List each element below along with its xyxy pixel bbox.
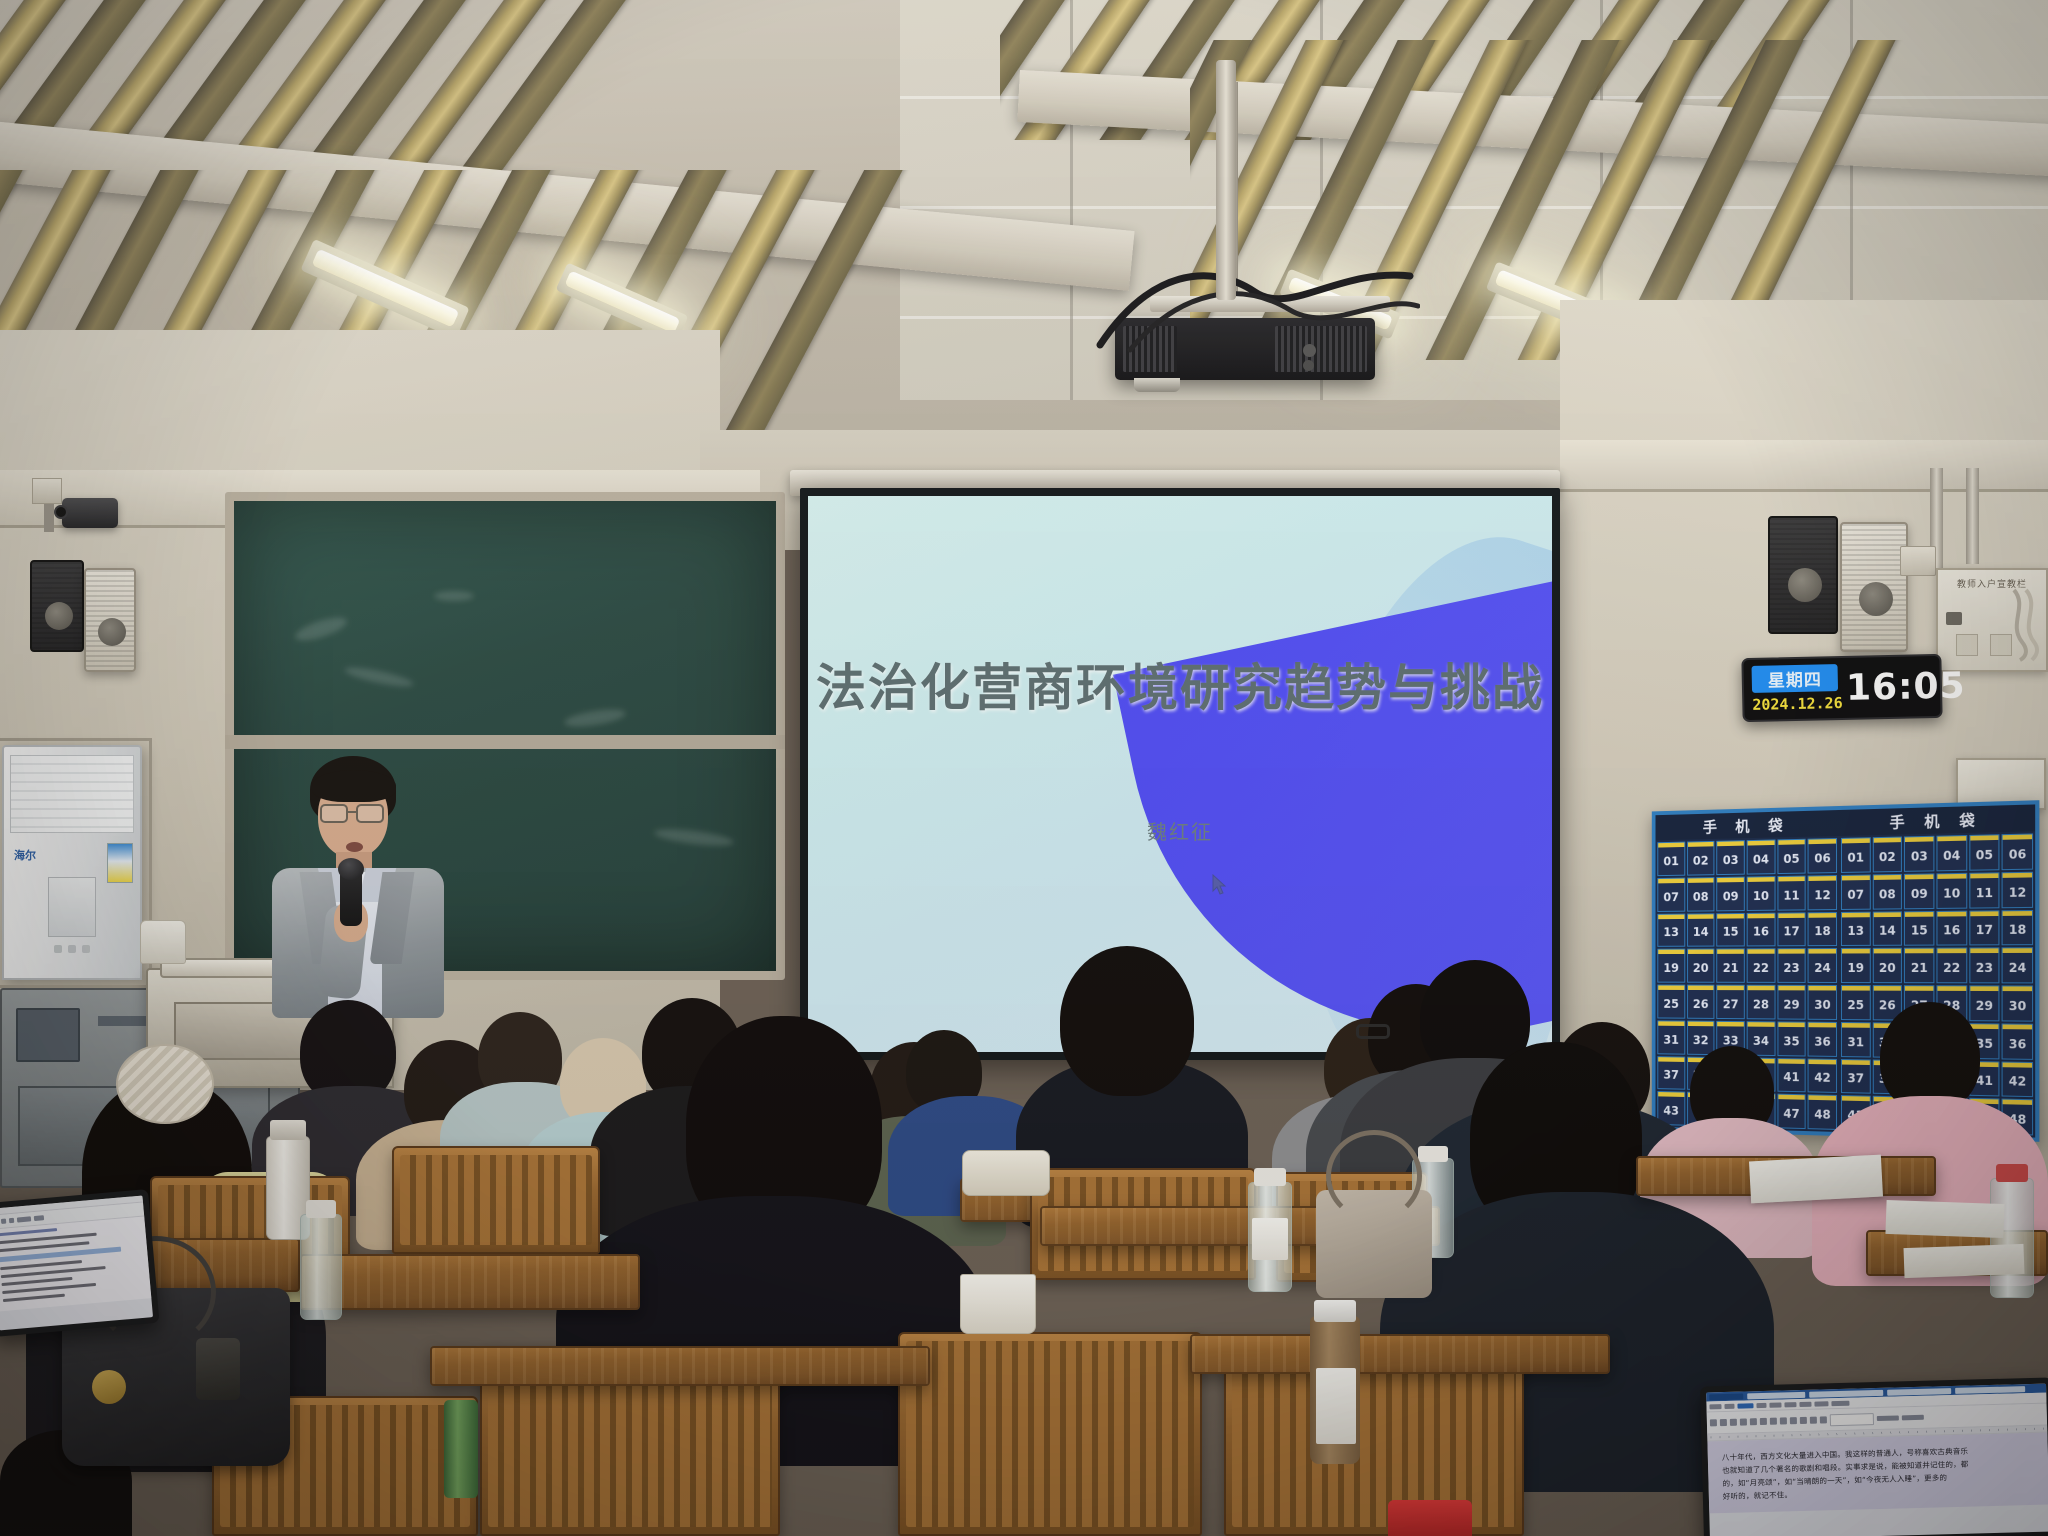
phone-pocket[interactable]: 03 <box>1904 836 1934 872</box>
phone-pocket[interactable]: 10 <box>1936 873 1966 909</box>
bottle-label <box>1252 1218 1288 1260</box>
phone-board-row: 010203040506 <box>1841 833 2033 872</box>
phone-pocket[interactable]: 36 <box>1808 1021 1837 1056</box>
phone-pocket[interactable]: 29 <box>1969 985 2000 1021</box>
presentation-slide[interactable]: 法治化营商环境研究趋势与挑战 魏红征 <box>808 496 1552 1052</box>
phone-pocket[interactable]: 30 <box>1808 985 1837 1020</box>
wps-document-page[interactable]: 八十年代，西方文化大量进入中国。我这样的普通人，号称喜欢古典音乐 也就知道了几个… <box>1707 1433 2048 1514</box>
chair-back-front <box>1224 1352 1524 1536</box>
chair-back-front <box>898 1332 1202 1536</box>
food-container <box>962 1150 1050 1196</box>
phone-pocket[interactable]: 11 <box>1969 872 2000 908</box>
phone-pocket[interactable]: 23 <box>1777 948 1806 983</box>
phone-board-row: 010203040506 <box>1657 838 1837 876</box>
speaker-icon <box>1840 522 1908 652</box>
phone-pocket[interactable]: 17 <box>1777 912 1806 947</box>
phone-pocket[interactable]: 42 <box>2002 1061 2033 1097</box>
phone-pocket[interactable]: 16 <box>1936 910 1966 946</box>
phone-pocket[interactable]: 10 <box>1747 876 1776 911</box>
phone-pocket[interactable]: 04 <box>1747 839 1776 874</box>
bottle-cap <box>1254 1168 1286 1186</box>
slide-title: 法治化营商环境研究趋势与挑战 <box>808 648 1552 720</box>
phone-board-row: 131415161718 <box>1841 909 2033 946</box>
speaker-icon <box>30 560 84 652</box>
phone-pocket[interactable]: 47 <box>1777 1094 1806 1129</box>
wall-box-left <box>32 478 62 504</box>
handbag-buckle <box>92 1370 126 1404</box>
presenter-glasses <box>356 804 384 823</box>
phone-pocket[interactable]: 03 <box>1717 840 1745 875</box>
phone-pocket[interactable]: 17 <box>1969 910 2000 946</box>
phone-pocket[interactable]: 12 <box>1808 875 1837 910</box>
speaker-icon <box>84 568 136 672</box>
phone-pocket[interactable]: 25 <box>1657 985 1685 1019</box>
bottle-cap <box>1996 1164 2028 1182</box>
phone-pocket[interactable]: 29 <box>1777 985 1806 1020</box>
laptop-left-screen[interactable] <box>0 1196 153 1331</box>
phone-pocket[interactable]: 04 <box>1936 835 1966 871</box>
papers-stack <box>1885 1200 2004 1238</box>
phone-pocket[interactable]: 14 <box>1872 911 1902 946</box>
phone-pocket[interactable]: 18 <box>1808 912 1837 947</box>
phone-pocket[interactable]: 13 <box>1657 913 1685 947</box>
phone-pocket[interactable]: 07 <box>1841 874 1870 909</box>
phone-pocket[interactable]: 14 <box>1687 913 1715 947</box>
phone-pocket[interactable]: 16 <box>1747 912 1776 946</box>
phone-pocket[interactable]: 24 <box>1808 948 1837 983</box>
chalkboard-rail <box>225 735 785 749</box>
mouse-pointer-icon <box>1212 874 1228 896</box>
phone-pocket[interactable]: 12 <box>2002 871 2033 907</box>
phone-pocket[interactable]: 09 <box>1717 876 1745 910</box>
ac-wall-recess <box>0 738 152 988</box>
projector-cables <box>1090 250 1420 360</box>
phone-pocket[interactable]: 05 <box>1969 834 2000 870</box>
slide-subtitle: 魏红征 <box>808 816 1552 845</box>
phone-pocket[interactable]: 06 <box>2002 833 2033 869</box>
bottle-cap <box>270 1120 306 1140</box>
microphone-head <box>338 858 364 880</box>
audience-glasses <box>1356 1024 1390 1039</box>
bottle-label <box>1316 1368 1356 1444</box>
phone-pocket[interactable]: 19 <box>1841 948 1870 983</box>
projector-conduit <box>1216 60 1236 300</box>
phone-pocket[interactable]: 22 <box>1936 948 1966 984</box>
phone-pocket[interactable]: 19 <box>1657 949 1685 983</box>
water-bottle <box>300 1214 342 1320</box>
presenter <box>262 756 492 1016</box>
phone-pocket[interactable]: 13 <box>1841 911 1870 946</box>
bag-strap <box>1326 1130 1422 1222</box>
phone-pocket[interactable]: 24 <box>2002 947 2033 983</box>
phone-pocket[interactable]: 22 <box>1747 949 1776 983</box>
clock-time: 16:05 <box>1846 665 1966 708</box>
phone-board-row: 131415161718 <box>1657 912 1837 948</box>
presenter-glasses <box>320 804 348 823</box>
green-bottle <box>444 1400 478 1498</box>
clock-weekday: 星期四 <box>1752 664 1839 693</box>
wall-notice-sign: 教师入户宣教栏 <box>1936 568 2048 672</box>
phone-pocket[interactable]: 23 <box>1969 948 2000 984</box>
phone-pocket[interactable]: 21 <box>1904 948 1934 983</box>
phone-pocket[interactable]: 42 <box>1808 1058 1837 1093</box>
phone-board-row: 252627282930 <box>1657 985 1837 1020</box>
phone-pocket[interactable]: 01 <box>1841 837 1870 872</box>
phone-pocket[interactable]: 32 <box>1687 1020 1715 1054</box>
phone-pocket[interactable]: 09 <box>1904 873 1934 909</box>
phone-pocket[interactable]: 37 <box>1657 1056 1685 1090</box>
phone-pocket[interactable]: 01 <box>1657 842 1685 876</box>
phone-pocket[interactable]: 02 <box>1687 841 1715 875</box>
phone-pocket[interactable]: 08 <box>1872 874 1902 909</box>
phone-pocket[interactable]: 07 <box>1657 877 1685 911</box>
paper-cup <box>960 1274 1036 1334</box>
water-bottle <box>1990 1178 2034 1298</box>
phone-board-row: 192021222324 <box>1657 948 1837 983</box>
phone-pocket[interactable]: 05 <box>1777 839 1806 874</box>
laptop-right-screen[interactable]: 八十年代，西方文化大量进入中国。我这样的普通人，号称喜欢古典音乐 也就知道了几个… <box>1706 1384 2048 1536</box>
phone-pocket[interactable]: 26 <box>1687 985 1715 1019</box>
phone-pocket[interactable]: 11 <box>1777 875 1806 910</box>
desk-front-rail <box>430 1346 930 1386</box>
phone-pocket[interactable]: 21 <box>1717 949 1745 983</box>
speaker-icon <box>1768 516 1838 634</box>
podium-items <box>140 920 186 964</box>
red-cup <box>1388 1500 1472 1536</box>
phone-pocket[interactable]: 20 <box>1872 948 1902 983</box>
laptop-right[interactable]: 八十年代，西方文化大量进入中国。我这样的普通人，号称喜欢古典音乐 也就知道了几个… <box>1700 1377 2048 1536</box>
phone-board-row: 192021222324 <box>1841 947 2033 983</box>
hair-bun <box>116 1044 214 1124</box>
phone-pocket[interactable]: 31 <box>1657 1020 1685 1054</box>
phone-pocket[interactable]: 08 <box>1687 877 1715 911</box>
bottle-cap <box>1418 1146 1448 1162</box>
phone-pocket[interactable]: 41 <box>1777 1058 1806 1093</box>
phone-board-row: 070809101112 <box>1841 871 2033 909</box>
projector-lens <box>1134 378 1180 392</box>
clock-date: 2024.12.26 <box>1752 694 1838 714</box>
notebook <box>1904 1244 2025 1278</box>
papers-stack <box>1749 1155 1883 1204</box>
laptop-left[interactable] <box>0 1189 160 1337</box>
phone-pocket[interactable]: 02 <box>1872 837 1902 873</box>
lecture-hall-photo: 教师入户宣教栏 法治化营商环境研究趋势与挑战 魏红征 <box>0 0 2048 1536</box>
phone-board-row: 070809101112 <box>1657 875 1837 912</box>
phone-pocket[interactable]: 30 <box>2002 985 2033 1021</box>
chair-back <box>392 1146 600 1254</box>
bottle-cap <box>1314 1300 1356 1322</box>
audience-head <box>1060 946 1194 1096</box>
phone-pocket[interactable]: 27 <box>1717 985 1745 1019</box>
phone-pocket[interactable]: 20 <box>1687 949 1715 983</box>
phone-pocket[interactable]: 28 <box>1747 985 1776 1019</box>
wps-app-label <box>1709 1393 1743 1400</box>
bottle-cap <box>306 1200 336 1218</box>
camera-icon <box>62 498 118 528</box>
wall-conduit-right-2 <box>1966 468 1979 564</box>
presenter-fringe <box>312 770 396 802</box>
digital-clock: 星期四 2024.12.26 16:05 <box>1741 654 1942 722</box>
phone-pocket[interactable]: 48 <box>1808 1095 1837 1130</box>
phone-pocket[interactable]: 15 <box>1717 912 1745 946</box>
phone-pocket[interactable]: 35 <box>1777 1021 1806 1056</box>
desk-front-rail <box>1190 1334 1610 1374</box>
phone-pocket[interactable]: 36 <box>2002 1023 2033 1059</box>
phone-pocket[interactable]: 25 <box>1841 985 1870 1020</box>
phone-pocket[interactable]: 18 <box>2002 909 2033 945</box>
wall-outlet-right <box>1900 546 1936 576</box>
handbag-tag <box>196 1338 240 1400</box>
desk-row <box>300 1254 640 1310</box>
phone-pocket[interactable]: 37 <box>1841 1059 1870 1094</box>
phone-pocket[interactable]: 31 <box>1841 1022 1870 1057</box>
phone-pocket[interactable]: 06 <box>1808 838 1837 873</box>
phone-pocket[interactable]: 15 <box>1904 911 1934 946</box>
